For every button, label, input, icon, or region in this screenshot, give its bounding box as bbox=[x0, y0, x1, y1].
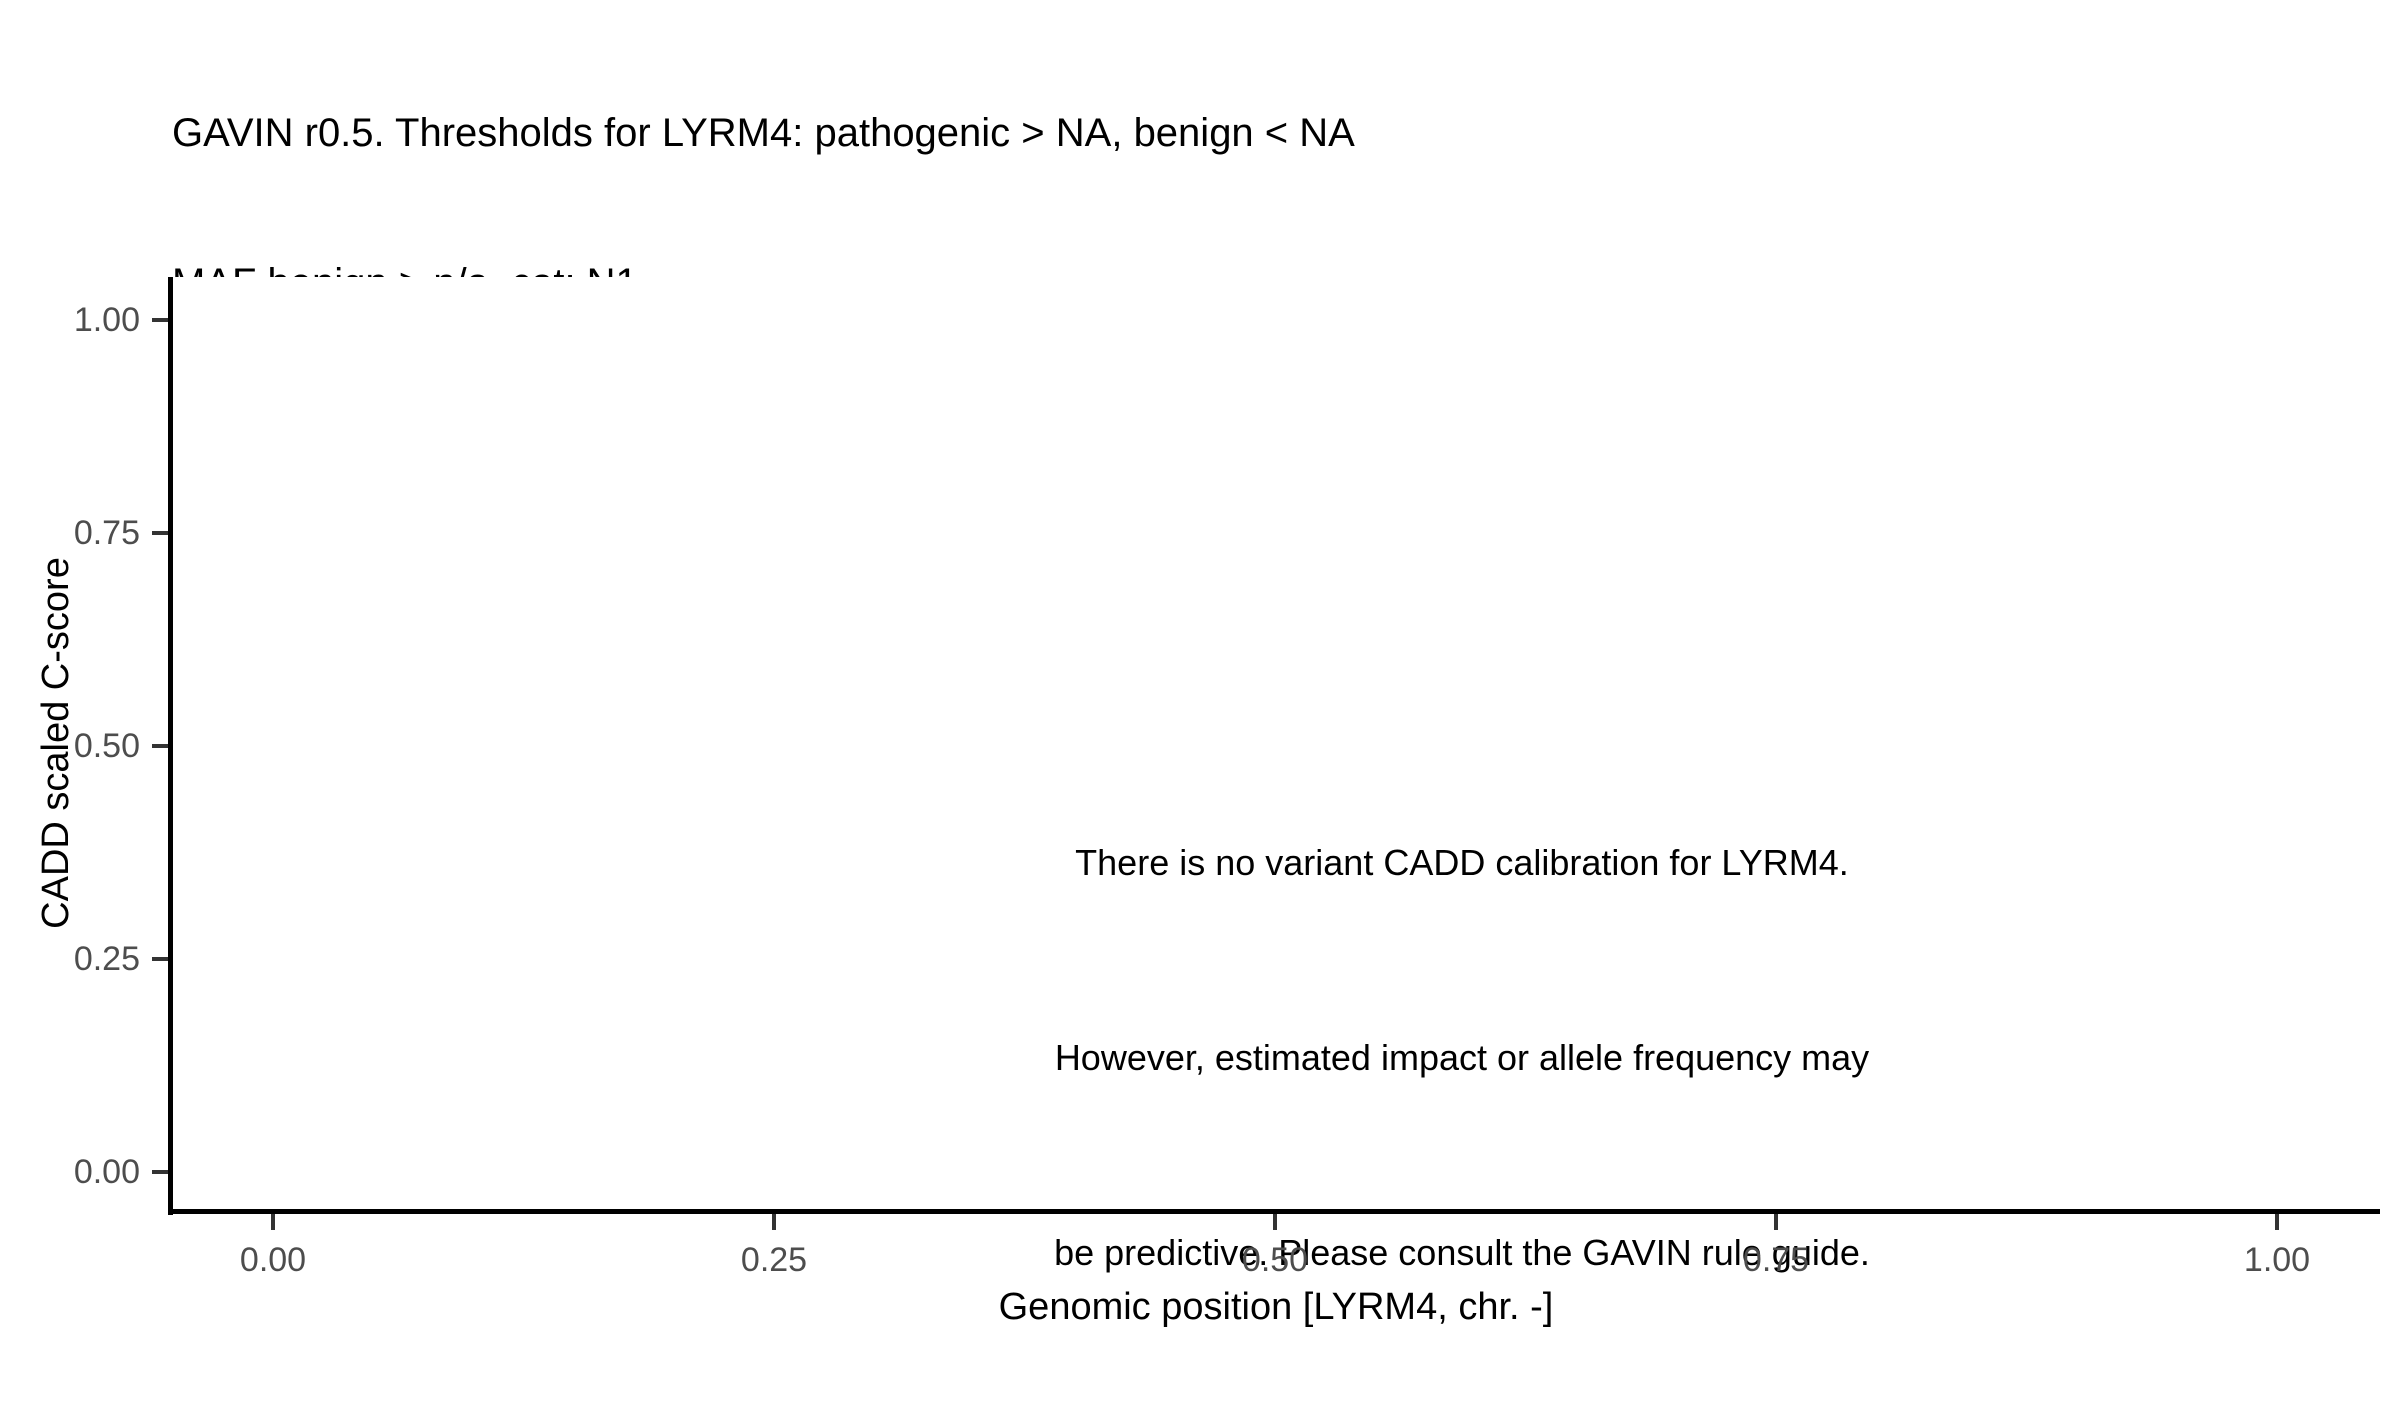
plot-figure: GAVIN r0.5. Thresholds for LYRM4: pathog… bbox=[0, 0, 2400, 1350]
y-axis-tick-mark-2 bbox=[152, 744, 168, 748]
x-axis-tick-label-0: 0.00 bbox=[153, 1240, 393, 1280]
no-calibration-message-line-2: However, estimated impact or allele freq… bbox=[862, 1025, 2062, 1090]
y-axis-tick-label-1: 0.25 bbox=[74, 939, 140, 979]
y-axis-tick-mark-0 bbox=[152, 1170, 168, 1174]
plot-panel: There is no variant CADD calibration for… bbox=[172, 277, 2380, 1212]
y-axis-title: CADD scaled C-score bbox=[34, 273, 78, 1213]
no-calibration-message-line-1: There is no variant CADD calibration for… bbox=[862, 830, 2062, 895]
y-axis-tick-mark-1 bbox=[152, 957, 168, 961]
y-axis-tick-label-3: 0.75 bbox=[74, 513, 140, 553]
x-axis-tick-mark-4 bbox=[2275, 1214, 2279, 1230]
x-axis-tick-label-4: 1.00 bbox=[2157, 1240, 2397, 1280]
y-axis-tick-label-4: 1.00 bbox=[74, 300, 140, 340]
x-axis-tick-mark-0 bbox=[271, 1214, 275, 1230]
x-axis-tick-label-1: 0.25 bbox=[654, 1240, 894, 1280]
x-axis-title: Genomic position [LYRM4, chr. -] bbox=[172, 1285, 2380, 1329]
y-axis-tick-mark-3 bbox=[152, 531, 168, 535]
x-axis-tick-label-3: 0.75 bbox=[1656, 1240, 1896, 1280]
x-axis-tick-mark-1 bbox=[772, 1214, 776, 1230]
x-axis-tick-mark-3 bbox=[1774, 1214, 1778, 1230]
x-axis-tick-mark-2 bbox=[1273, 1214, 1277, 1230]
y-axis-tick-label-2: 0.50 bbox=[74, 726, 140, 766]
y-axis-tick-mark-4 bbox=[152, 318, 168, 322]
y-axis-line bbox=[168, 277, 173, 1215]
y-axis-tick-label-0: 0.00 bbox=[74, 1152, 140, 1192]
x-axis-tick-label-2: 0.50 bbox=[1155, 1240, 1395, 1280]
plot-title-line-1: GAVIN r0.5. Thresholds for LYRM4: pathog… bbox=[172, 108, 2352, 158]
